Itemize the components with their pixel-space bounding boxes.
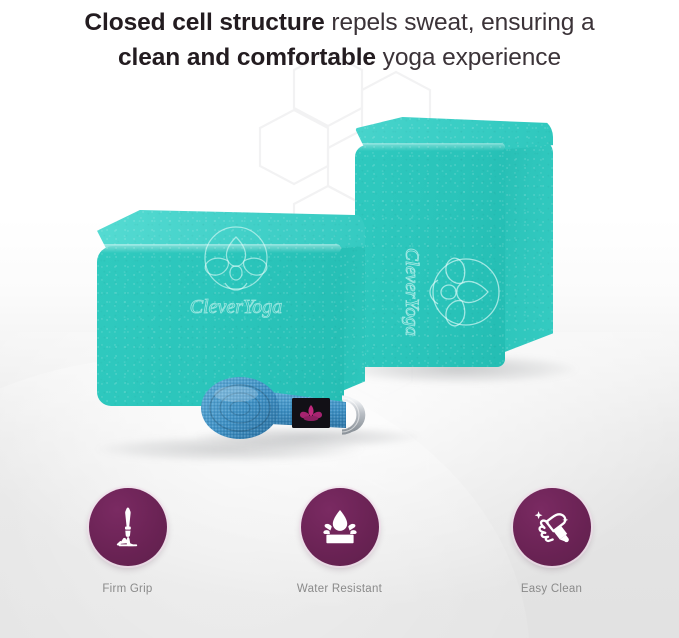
feature-label: Firm Grip: [68, 583, 188, 595]
product-scene: CleverYoga CleverYoga: [0, 96, 679, 466]
handstand-pose-icon: [106, 505, 150, 549]
water-droplet-repel-icon: [317, 504, 363, 550]
block-lying-edge-highlight: [99, 244, 341, 253]
product-feature-poster: Closed cell structure repels sweat, ensu…: [0, 0, 679, 638]
yoga-strap-rolled: [196, 368, 418, 440]
feature-label: Easy Clean: [492, 583, 612, 595]
headline-regular-2: yoga experience: [376, 44, 561, 71]
block-upright-edge-highlight: [355, 143, 505, 151]
feature-icon-badge: [89, 488, 167, 566]
headline-regular-1: repels sweat, ensuring a: [325, 9, 595, 36]
hand-cleaning-cloth-icon: [529, 504, 575, 550]
yoga-block-upright: [355, 117, 553, 367]
feature-firm-grip[interactable]: Firm Grip: [68, 488, 188, 595]
block-upright-front-face: [355, 145, 505, 367]
feature-icon-badge: [513, 488, 591, 566]
headline-emphasis-1: Closed cell structure: [84, 9, 324, 36]
feature-list: Firm Grip Water Resistant: [0, 488, 679, 595]
feature-label: Water Resistant: [280, 583, 400, 595]
block-upright-side-face: [497, 139, 553, 355]
feature-easy-clean[interactable]: Easy Clean: [492, 488, 612, 595]
feature-icon-badge: [301, 488, 379, 566]
headline-emphasis-2: clean and comfortable: [118, 44, 376, 71]
feature-water-resistant[interactable]: Water Resistant: [280, 488, 400, 595]
page-title: Closed cell structure repels sweat, ensu…: [0, 6, 679, 76]
